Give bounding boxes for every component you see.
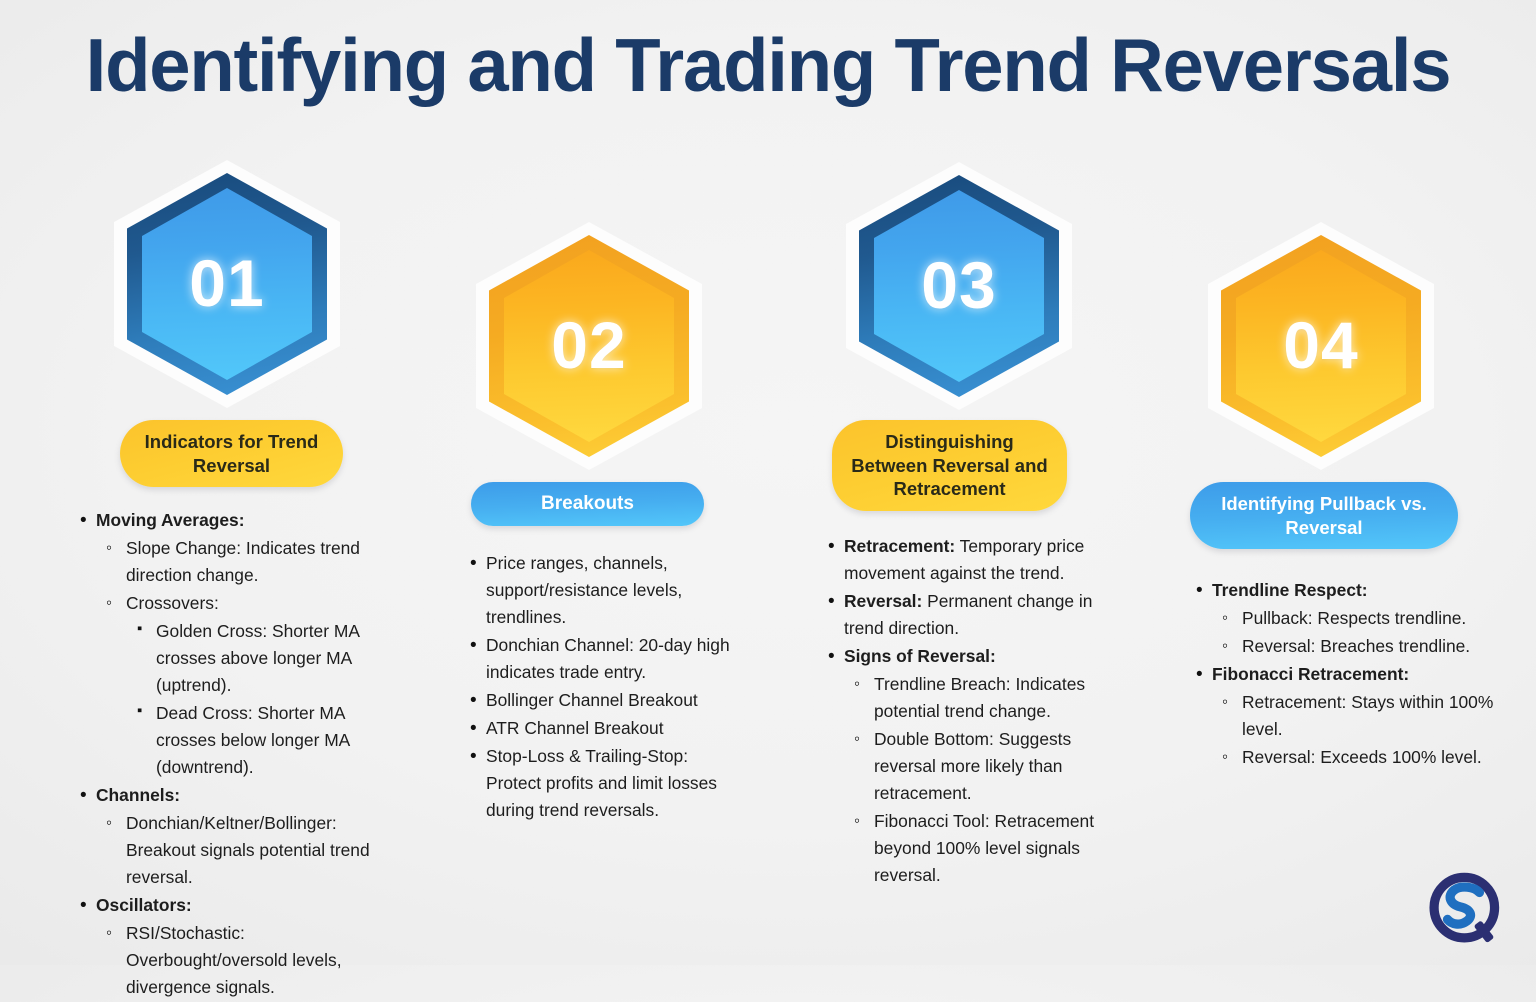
list-item: Donchian/Keltner/Bollinger: Breakout sig… xyxy=(104,810,404,891)
column-2: 02 Breakouts Price ranges, channels, sup… xyxy=(418,222,778,825)
badge-number: 04 xyxy=(1283,312,1358,378)
list-item: Reversal: Exceeds 100% level. xyxy=(1220,744,1498,771)
list-item-text: Price ranges, channels, support/resistan… xyxy=(486,553,682,627)
list-item: Channels: xyxy=(76,782,404,809)
badge-hexagon-04: 04 xyxy=(1208,222,1434,470)
column-3: 03 Distinguishing Between Reversal and R… xyxy=(782,162,1142,890)
list-item: Trendline Respect: xyxy=(1192,577,1498,604)
list-item-label: Signs of Reversal: xyxy=(844,646,996,666)
badge-hexagon-02: 02 xyxy=(476,222,702,470)
badge-hexagon-01: 01 xyxy=(114,160,340,408)
column-4: 04 Identifying Pullback vs. Reversal Tre… xyxy=(1146,222,1506,772)
column-1: 01 Indicators for Trend Reversal Moving … xyxy=(52,160,412,1002)
list-item-text: Slope Change: Indicates trend direction … xyxy=(126,538,360,585)
column-3-label: Distinguishing Between Reversal and Retr… xyxy=(832,420,1067,511)
column-2-label: Breakouts xyxy=(471,482,704,526)
list-item-label: Moving Averages: xyxy=(96,510,245,530)
list-item: Donchian Channel: 20-day high indicates … xyxy=(466,632,742,686)
column-2-list: Price ranges, channels, support/resistan… xyxy=(442,550,742,824)
list-item-text: Reversal: Exceeds 100% level. xyxy=(1242,747,1482,767)
list-item-text: Bollinger Channel Breakout xyxy=(486,690,698,710)
columns-container: 01 Indicators for Trend Reversal Moving … xyxy=(0,0,1536,965)
list-item-text: Golden Cross: Shorter MA crosses above l… xyxy=(156,621,359,695)
column-4-list: Trendline Respect:Pullback: Respects tre… xyxy=(1168,577,1498,771)
list-item-text: Reversal: Breaches trendline. xyxy=(1242,636,1470,656)
list-item: Fibonacci Retracement: xyxy=(1192,661,1498,688)
list-item: Moving Averages: xyxy=(76,507,404,534)
list-item: Pullback: Respects trendline. xyxy=(1220,605,1498,632)
list-item: Stop-Loss & Trailing-Stop: Protect profi… xyxy=(466,743,742,824)
list-item: Double Bottom: Suggests reversal more li… xyxy=(852,726,1122,807)
list-item-text: RSI/Stochastic: Overbought/oversold leve… xyxy=(126,923,342,997)
list-item-label: Reversal: xyxy=(844,591,922,611)
list-item-text: Crossovers: xyxy=(126,593,219,613)
list-item-text: Dead Cross: Shorter MA crosses below lon… xyxy=(156,703,349,777)
list-item: Bollinger Channel Breakout xyxy=(466,687,742,714)
list-item-text: Donchian/Keltner/Bollinger: Breakout sig… xyxy=(126,813,370,887)
list-item: Reversal: Permanent change in trend dire… xyxy=(824,588,1122,642)
list-item-text: Donchian Channel: 20-day high indicates … xyxy=(486,635,730,682)
list-item-text: Pullback: Respects trendline. xyxy=(1242,608,1466,628)
list-item-label: Oscillators: xyxy=(96,895,192,915)
column-4-label: Identifying Pullback vs. Reversal xyxy=(1190,482,1458,549)
list-item: Price ranges, channels, support/resistan… xyxy=(466,550,742,631)
list-item: Crossovers: xyxy=(104,590,404,617)
list-item-label: Channels: xyxy=(96,785,180,805)
list-item-label: Fibonacci Retracement: xyxy=(1212,664,1409,684)
list-item-text: Double Bottom: Suggests reversal more li… xyxy=(874,729,1071,803)
list-item: RSI/Stochastic: Overbought/oversold leve… xyxy=(104,920,404,1001)
list-item: ATR Channel Breakout xyxy=(466,715,742,742)
badge-number: 02 xyxy=(551,312,626,378)
list-item-text: Trendline Breach: Indicates potential tr… xyxy=(874,674,1085,721)
list-item: Retracement: Temporary price movement ag… xyxy=(824,533,1122,587)
list-item: Dead Cross: Shorter MA crosses below lon… xyxy=(134,700,404,781)
list-item: Oscillators: xyxy=(76,892,404,919)
badge-number: 01 xyxy=(189,250,264,316)
badge-hexagon-03: 03 xyxy=(846,162,1072,410)
list-item-text: Retracement: Stays within 100% level. xyxy=(1242,692,1493,739)
list-item-text: Fibonacci Tool: Retracement beyond 100% … xyxy=(874,811,1094,885)
column-1-label: Indicators for Trend Reversal xyxy=(120,420,343,487)
list-item-label: Trendline Respect: xyxy=(1212,580,1368,600)
list-item-text: ATR Channel Breakout xyxy=(486,718,664,738)
list-item: Golden Cross: Shorter MA crosses above l… xyxy=(134,618,404,699)
sq-logo-icon xyxy=(1424,869,1508,953)
list-item: Slope Change: Indicates trend direction … xyxy=(104,535,404,589)
list-item: Retracement: Stays within 100% level. xyxy=(1220,689,1498,743)
list-item: Reversal: Breaches trendline. xyxy=(1220,633,1498,660)
list-item-label: Retracement: xyxy=(844,536,955,556)
column-3-list: Retracement: Temporary price movement ag… xyxy=(800,533,1122,889)
list-item-text: Stop-Loss & Trailing-Stop: Protect profi… xyxy=(486,746,717,820)
list-item: Signs of Reversal: xyxy=(824,643,1122,670)
list-item: Fibonacci Tool: Retracement beyond 100% … xyxy=(852,808,1122,889)
list-item: Trendline Breach: Indicates potential tr… xyxy=(852,671,1122,725)
column-1-list: Moving Averages:Slope Change: Indicates … xyxy=(52,507,404,1000)
badge-number: 03 xyxy=(921,252,996,318)
